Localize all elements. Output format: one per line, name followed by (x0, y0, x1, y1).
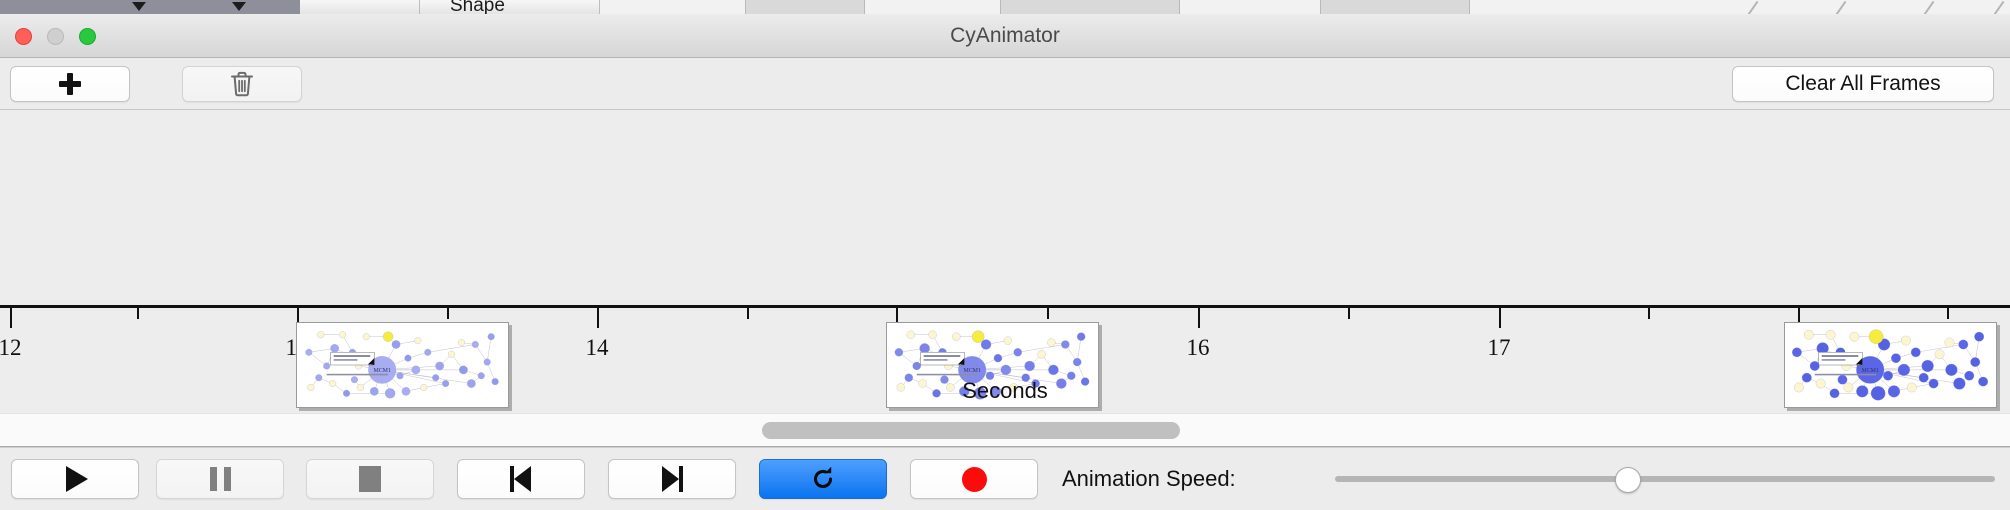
slider-track (1335, 476, 1995, 482)
play-button[interactable] (11, 459, 139, 499)
stop-icon (359, 466, 381, 492)
play-icon (66, 466, 88, 492)
background-desktop-strip: Shape (0, 0, 2010, 14)
plus-icon (59, 73, 81, 95)
timeline-axis (0, 305, 2010, 308)
record-icon (962, 467, 987, 492)
axis-tick-minor (1947, 308, 1949, 319)
clear-all-frames-label: Clear All Frames (1785, 72, 1940, 96)
window-title: CyAnimator (0, 14, 2010, 58)
timeline-scrollbar-thumb[interactable] (762, 422, 1180, 439)
svg-text:MCM1: MCM1 (1861, 368, 1879, 374)
skip-next-icon (659, 466, 685, 492)
skip-previous-button[interactable] (457, 459, 585, 499)
axis-tick-minor (1648, 308, 1650, 319)
skip-previous-icon (508, 466, 534, 492)
background-chunk (300, 0, 420, 14)
background-slash (1836, 1, 1847, 14)
background-slash (1748, 1, 1759, 14)
axis-tick-label: 14 (586, 335, 609, 361)
animation-speed-slider[interactable] (1335, 459, 1995, 499)
trash-icon (229, 70, 255, 98)
stop-button[interactable] (306, 459, 434, 499)
background-chunk (420, 0, 600, 14)
timeline-scrollbar[interactable] (0, 413, 2010, 447)
background-slash (1994, 1, 2005, 14)
background-lightbox (1000, 0, 1180, 14)
axis-tick-minor (747, 308, 749, 319)
background-lightbox (745, 0, 865, 14)
add-frame-button[interactable] (10, 66, 130, 102)
background-triangle-icon (232, 2, 246, 11)
record-button[interactable] (910, 459, 1038, 499)
pause-button[interactable] (156, 459, 284, 499)
loop-button[interactable] (759, 459, 887, 499)
svg-text:MCM1: MCM1 (963, 368, 981, 374)
axis-tick-label: 17 (1488, 335, 1511, 361)
cyanimator-window: Shape CyAnimator Clear All Frames (0, 0, 2010, 510)
toolbar: Clear All Frames (0, 58, 2010, 110)
skip-next-button[interactable] (608, 459, 736, 499)
animation-speed-label: Animation Speed: (1062, 459, 1236, 499)
background-slash (1924, 1, 1935, 14)
timeline-panel[interactable]: 12131415161718 MCM1MCM1MCM1 Seconds (0, 110, 2010, 413)
background-dark-panel (0, 0, 300, 14)
axis-tick-label: 16 (1187, 335, 1210, 361)
axis-tick-major (1198, 308, 1200, 328)
axis-tick-minor (137, 308, 139, 319)
delete-frame-button[interactable] (182, 66, 302, 102)
axis-tick-major (10, 308, 12, 328)
pause-icon (210, 467, 231, 491)
background-shape-label: Shape (450, 0, 505, 14)
axis-tick-minor (447, 308, 449, 319)
svg-text:MCM1: MCM1 (373, 368, 391, 374)
axis-tick-minor (1047, 308, 1049, 319)
axis-tick-major (1499, 308, 1501, 328)
loop-icon (808, 464, 838, 494)
title-bar: CyAnimator (0, 14, 2010, 58)
axis-title: Seconds (0, 378, 2010, 404)
axis-tick-label: 12 (0, 335, 22, 361)
background-triangle-icon (132, 2, 146, 11)
background-lightbox (1320, 0, 1470, 14)
playback-controls: Animation Speed: (0, 447, 2010, 510)
slider-thumb[interactable] (1615, 467, 1641, 493)
axis-tick-major (597, 308, 599, 328)
clear-all-frames-button[interactable]: Clear All Frames (1732, 66, 1994, 102)
axis-tick-minor (1348, 308, 1350, 319)
